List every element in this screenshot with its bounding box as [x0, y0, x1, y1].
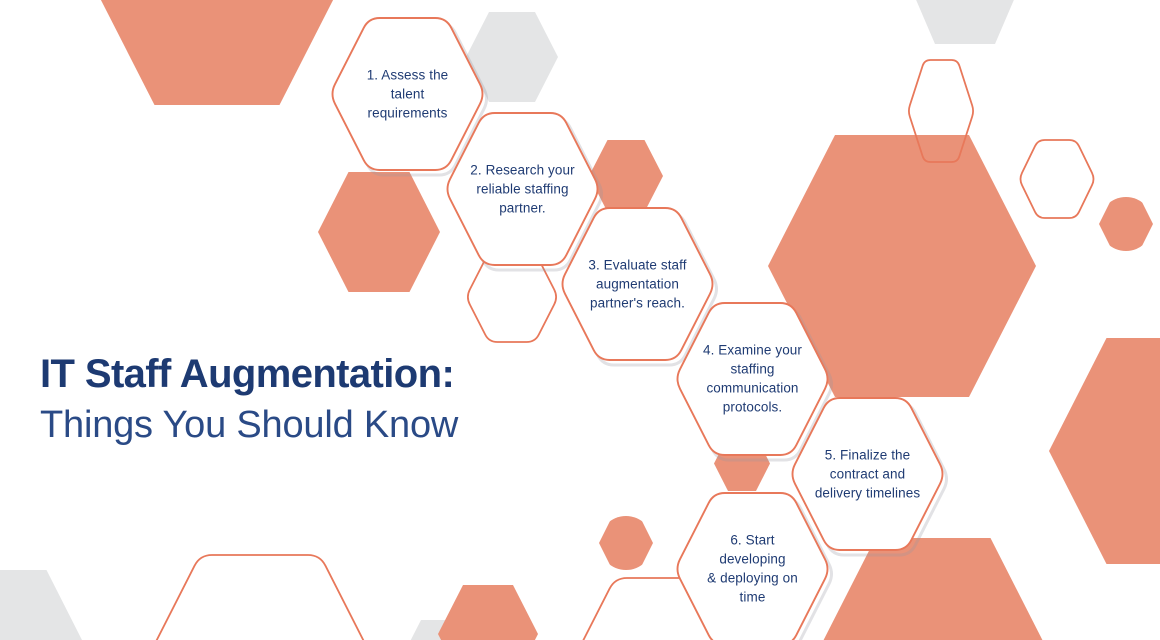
- decor-hex-right-lower: [1049, 338, 1160, 564]
- decor-hex-outline-bot-left: [140, 555, 380, 640]
- decor-hex-right-circle: [1099, 197, 1153, 251]
- infographic-canvas: 1. Assess the talent requirements2. Rese…: [0, 0, 1160, 640]
- decor-hex-bottom-left: [438, 585, 538, 640]
- decor-hex-bottom-right: [818, 538, 1048, 640]
- decor-hex-gray-bot-left: [0, 570, 84, 640]
- decor-hex-upper-left-mid: [318, 172, 440, 292]
- decor-hex-top-left-large: [92, 0, 342, 105]
- step-hexagon-6[interactable]: 6. Start developing & deploying on time: [675, 493, 830, 640]
- page-title: IT Staff Augmentation:: [40, 352, 660, 397]
- page-subtitle: Things You Should Know: [40, 403, 660, 448]
- decor-hex-bottom-circle: [599, 516, 653, 570]
- decor-hex-gray-top-right: [905, 0, 1025, 44]
- headline-block: IT Staff Augmentation: Things You Should…: [40, 352, 660, 448]
- step-label-6: 6. Start developing & deploying on time: [697, 531, 809, 608]
- decor-hex-outline-right-mid: [1019, 140, 1095, 218]
